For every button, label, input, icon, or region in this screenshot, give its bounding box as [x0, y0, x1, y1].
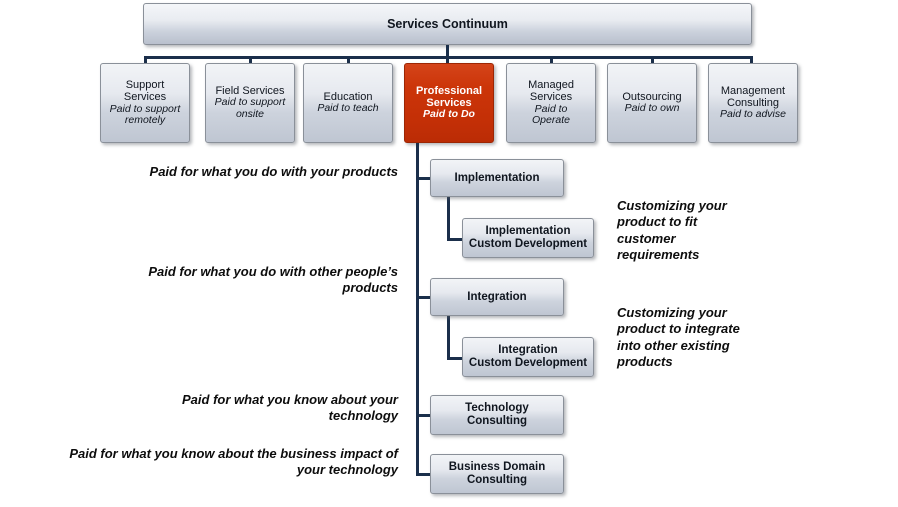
- node-tagline-line1: Paid to Do: [416, 109, 482, 121]
- node-support-services[interactable]: Support Services Paid to support remotel…: [100, 63, 190, 143]
- node-label-line2: Custom Development: [469, 357, 587, 370]
- node-technology-consulting[interactable]: Technology Consulting: [430, 395, 564, 435]
- annotation-line6: products: [617, 354, 673, 369]
- node-label-line1: Managed: [528, 79, 574, 91]
- node-implementation[interactable]: Implementation: [430, 159, 564, 197]
- node-label-line1: Integration: [469, 344, 587, 357]
- node-label-line2: Consulting: [465, 415, 529, 428]
- node-label-line2: Custom Development: [469, 238, 587, 251]
- node-implementation-custom-development[interactable]: Implementation Custom Development: [462, 218, 594, 258]
- annotation-line5: existing: [681, 338, 730, 353]
- annotation-line3: products: [342, 280, 398, 295]
- node-management-consulting[interactable]: Management Consulting Paid to advise: [708, 63, 798, 143]
- annotation-line5: requirements: [617, 247, 699, 262]
- annotation-line4: into other: [617, 338, 677, 353]
- node-label-line1: Business Domain: [449, 461, 546, 474]
- annotation-paid-for-what-you-do-other-products: Paid for what you do with other people’s…: [148, 264, 398, 297]
- node-label-line2: Services: [528, 91, 574, 103]
- connector-subbranch-implementation-cd-drop: [447, 197, 450, 240]
- node-tagline-line2: Operate: [528, 115, 574, 127]
- node-integration-custom-development[interactable]: Integration Custom Development: [462, 337, 594, 377]
- node-label-line2: Services: [110, 91, 181, 103]
- root-node-services-continuum[interactable]: Services Continuum: [143, 3, 752, 45]
- annotation-line2: with your products: [281, 164, 398, 179]
- node-label-line1: Integration: [467, 291, 526, 304]
- node-outsourcing[interactable]: Outsourcing Paid to own: [607, 63, 697, 143]
- node-label-line1: Technology: [465, 402, 529, 415]
- annotation-line1: Paid for what you know: [182, 392, 327, 407]
- node-tagline-line2: remotely: [110, 115, 181, 127]
- node-tagline-line1: Paid to own: [622, 103, 681, 115]
- connector-professional-services-spine: [416, 143, 419, 476]
- node-label-line1: Professional: [416, 85, 482, 97]
- node-field-services[interactable]: Field Services Paid to support onsite: [205, 63, 295, 143]
- connector-subbranch-integration-cd-drop: [447, 316, 450, 359]
- annotation-customizing-to-integrate-existing-products: Customizing your product to integrate in…: [617, 305, 747, 370]
- node-integration[interactable]: Integration: [430, 278, 564, 316]
- node-label-line1: Support: [110, 79, 181, 91]
- node-tagline-line1: Paid to advise: [720, 109, 786, 121]
- annotation-paid-for-what-you-know-business-impact: Paid for what you know about the busines…: [60, 446, 398, 479]
- node-tagline-line2: onsite: [215, 109, 286, 121]
- annotation-line1: Paid for what you do: [150, 164, 278, 179]
- diagram-canvas: Services Continuum Support Services Paid…: [0, 0, 898, 507]
- node-label-line1: Implementation: [469, 225, 587, 238]
- annotation-line1: Customizing: [617, 305, 695, 320]
- annotation-line2: with other people’s: [280, 264, 398, 279]
- root-node-label: Services Continuum: [387, 17, 508, 31]
- annotation-line1: Customizing: [617, 198, 695, 213]
- annotation-line1: Paid for what you do: [148, 264, 276, 279]
- annotation-line3: to integrate: [669, 321, 740, 336]
- annotation-line4: customer: [617, 231, 676, 246]
- annotation-paid-for-what-you-do-products: Paid for what you do with your products: [148, 164, 398, 180]
- annotation-line1: Paid for what you know: [69, 446, 214, 461]
- node-tagline-line1: Paid to teach: [317, 103, 378, 115]
- node-business-domain-consulting[interactable]: Business Domain Consulting: [430, 454, 564, 494]
- node-managed-services[interactable]: Managed Services Paid to Operate: [506, 63, 596, 143]
- annotation-line3: to fit: [669, 214, 697, 229]
- node-professional-services[interactable]: Professional Services Paid to Do: [404, 63, 494, 143]
- annotation-customizing-to-fit-customer-requirements: Customizing your product to fit customer…: [617, 198, 747, 263]
- annotation-paid-for-what-you-know-technology: Paid for what you know about your techno…: [148, 392, 398, 425]
- annotation-line2: about your technology: [329, 392, 398, 423]
- node-label-line2: Consulting: [449, 474, 546, 487]
- node-label-line1: Management: [720, 85, 786, 97]
- node-education[interactable]: Education Paid to teach: [303, 63, 393, 143]
- node-label-line1: Implementation: [455, 172, 540, 185]
- annotation-line3: technology: [329, 462, 398, 477]
